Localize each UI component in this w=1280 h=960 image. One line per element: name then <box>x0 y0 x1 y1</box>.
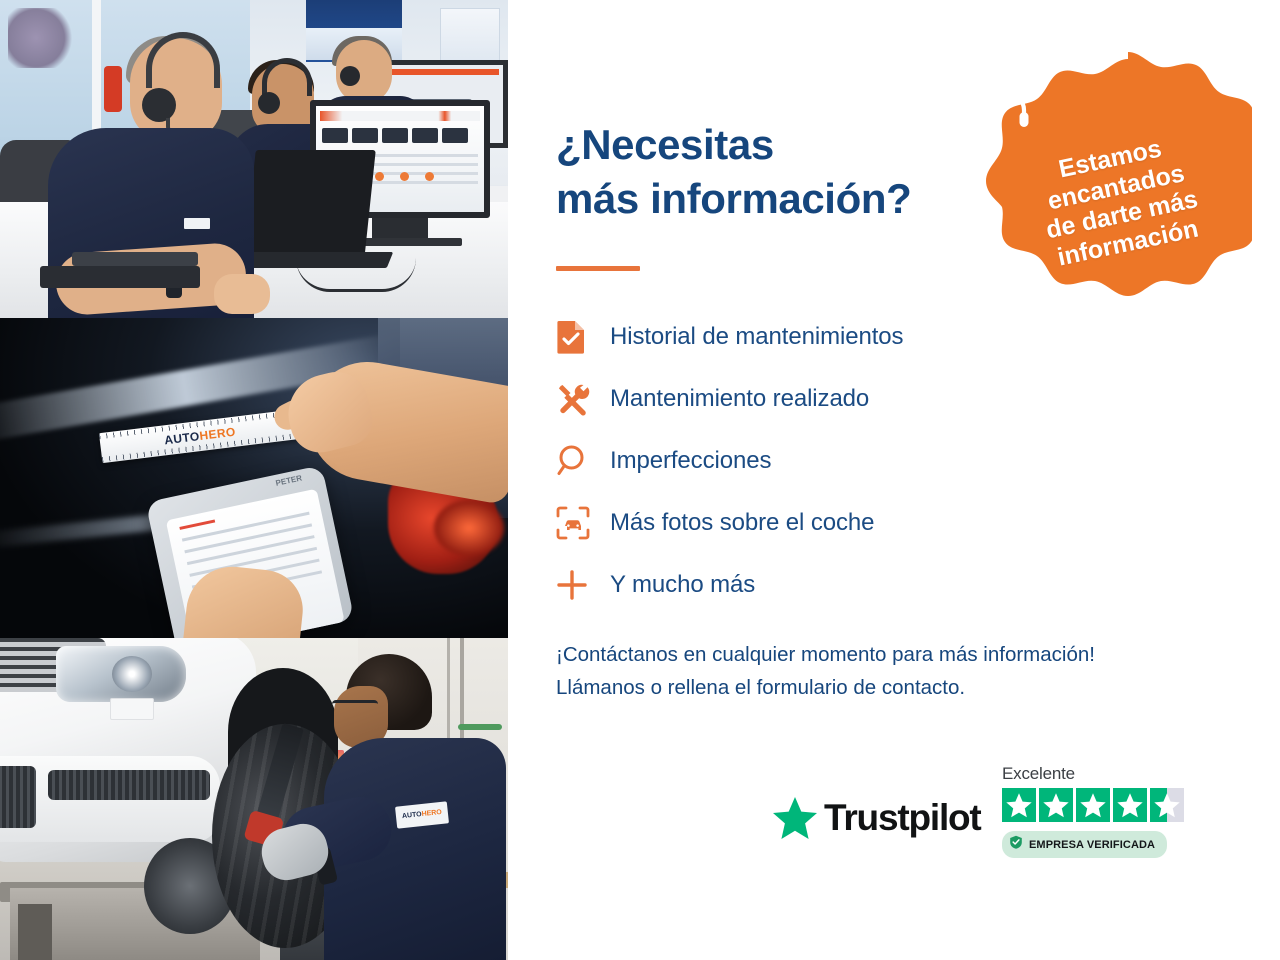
feature-label: Mantenimiento realizado <box>610 385 869 413</box>
trustpilot-star-icon <box>772 796 818 840</box>
star-rating <box>1002 788 1192 822</box>
trustpilot-wordmark: Trustpilot <box>824 797 981 839</box>
contact-text: ¡Contáctanos en cualquier momento para m… <box>556 638 1256 704</box>
title-underline-rule <box>556 266 640 271</box>
feature-label: Y mucho más <box>610 571 755 599</box>
star-filled <box>1076 788 1110 822</box>
feature-item-maintenance-done: Mantenimiento realizado <box>556 368 1076 430</box>
feature-label: Historial de mantenimientos <box>610 323 903 351</box>
magnifier-icon <box>556 444 610 478</box>
promo-panel: AUTOHERO PETER <box>0 0 1280 960</box>
document-check-icon <box>556 320 610 354</box>
verified-shield-check-icon <box>1009 835 1023 854</box>
contact-line-2: Llámanos o rellena el formulario de cont… <box>556 671 1256 704</box>
feature-item-imperfections: Imperfecciones <box>556 430 1076 492</box>
feature-item-more-photos: Más fotos sobre el coche <box>556 492 1076 554</box>
car-scan-frame-icon <box>556 506 610 540</box>
car-inspection-ruler-photo: AUTOHERO PETER <box>0 318 508 638</box>
photo-column: AUTOHERO PETER <box>0 0 508 960</box>
trustpilot-logo[interactable]: Trustpilot <box>772 796 981 840</box>
call-centre-agents-photo <box>0 0 508 318</box>
plus-icon <box>556 569 610 601</box>
page-title: ¿Necesitas más información? <box>556 118 976 226</box>
star-filled <box>1113 788 1147 822</box>
trustpilot-widget[interactable]: Trustpilot Excelente <box>772 760 1192 890</box>
feature-item-service-history: Historial de mantenimientos <box>556 306 1076 368</box>
shirt-badge-first: AUTO <box>402 811 422 820</box>
support-badge: Estamos encantados de darte más informac… <box>986 48 1252 314</box>
rating-label: Excelente <box>1002 764 1192 784</box>
page-title-line-2: más información? <box>556 175 911 222</box>
workshop-tyre-change-photo: AUTOHERO <box>0 638 508 960</box>
status-badge: EMPRESA VERIFICADA <box>1002 831 1167 858</box>
verified-label: EMPRESA VERIFICADA <box>1029 839 1155 851</box>
contact-line-1: ¡Contáctanos en cualquier momento para m… <box>556 638 1256 671</box>
trustpilot-rating: Excelente <box>1002 764 1192 858</box>
shirt-badge-second: HERO <box>421 809 442 818</box>
star-filled <box>1002 788 1036 822</box>
feature-item-much-more: Y mucho más <box>556 554 1076 616</box>
star-half <box>1150 788 1184 822</box>
feature-label: Imperfecciones <box>610 447 771 475</box>
content-panel: ¿Necesitas más información? Estamos enca… <box>508 0 1280 960</box>
feature-list: Historial de mantenimientos Mantenimient… <box>556 306 1076 616</box>
page-title-line-1: ¿Necesitas <box>556 121 774 168</box>
feature-label: Más fotos sobre el coche <box>610 509 874 537</box>
tools-wrench-screwdriver-icon <box>556 382 610 416</box>
star-filled <box>1039 788 1073 822</box>
